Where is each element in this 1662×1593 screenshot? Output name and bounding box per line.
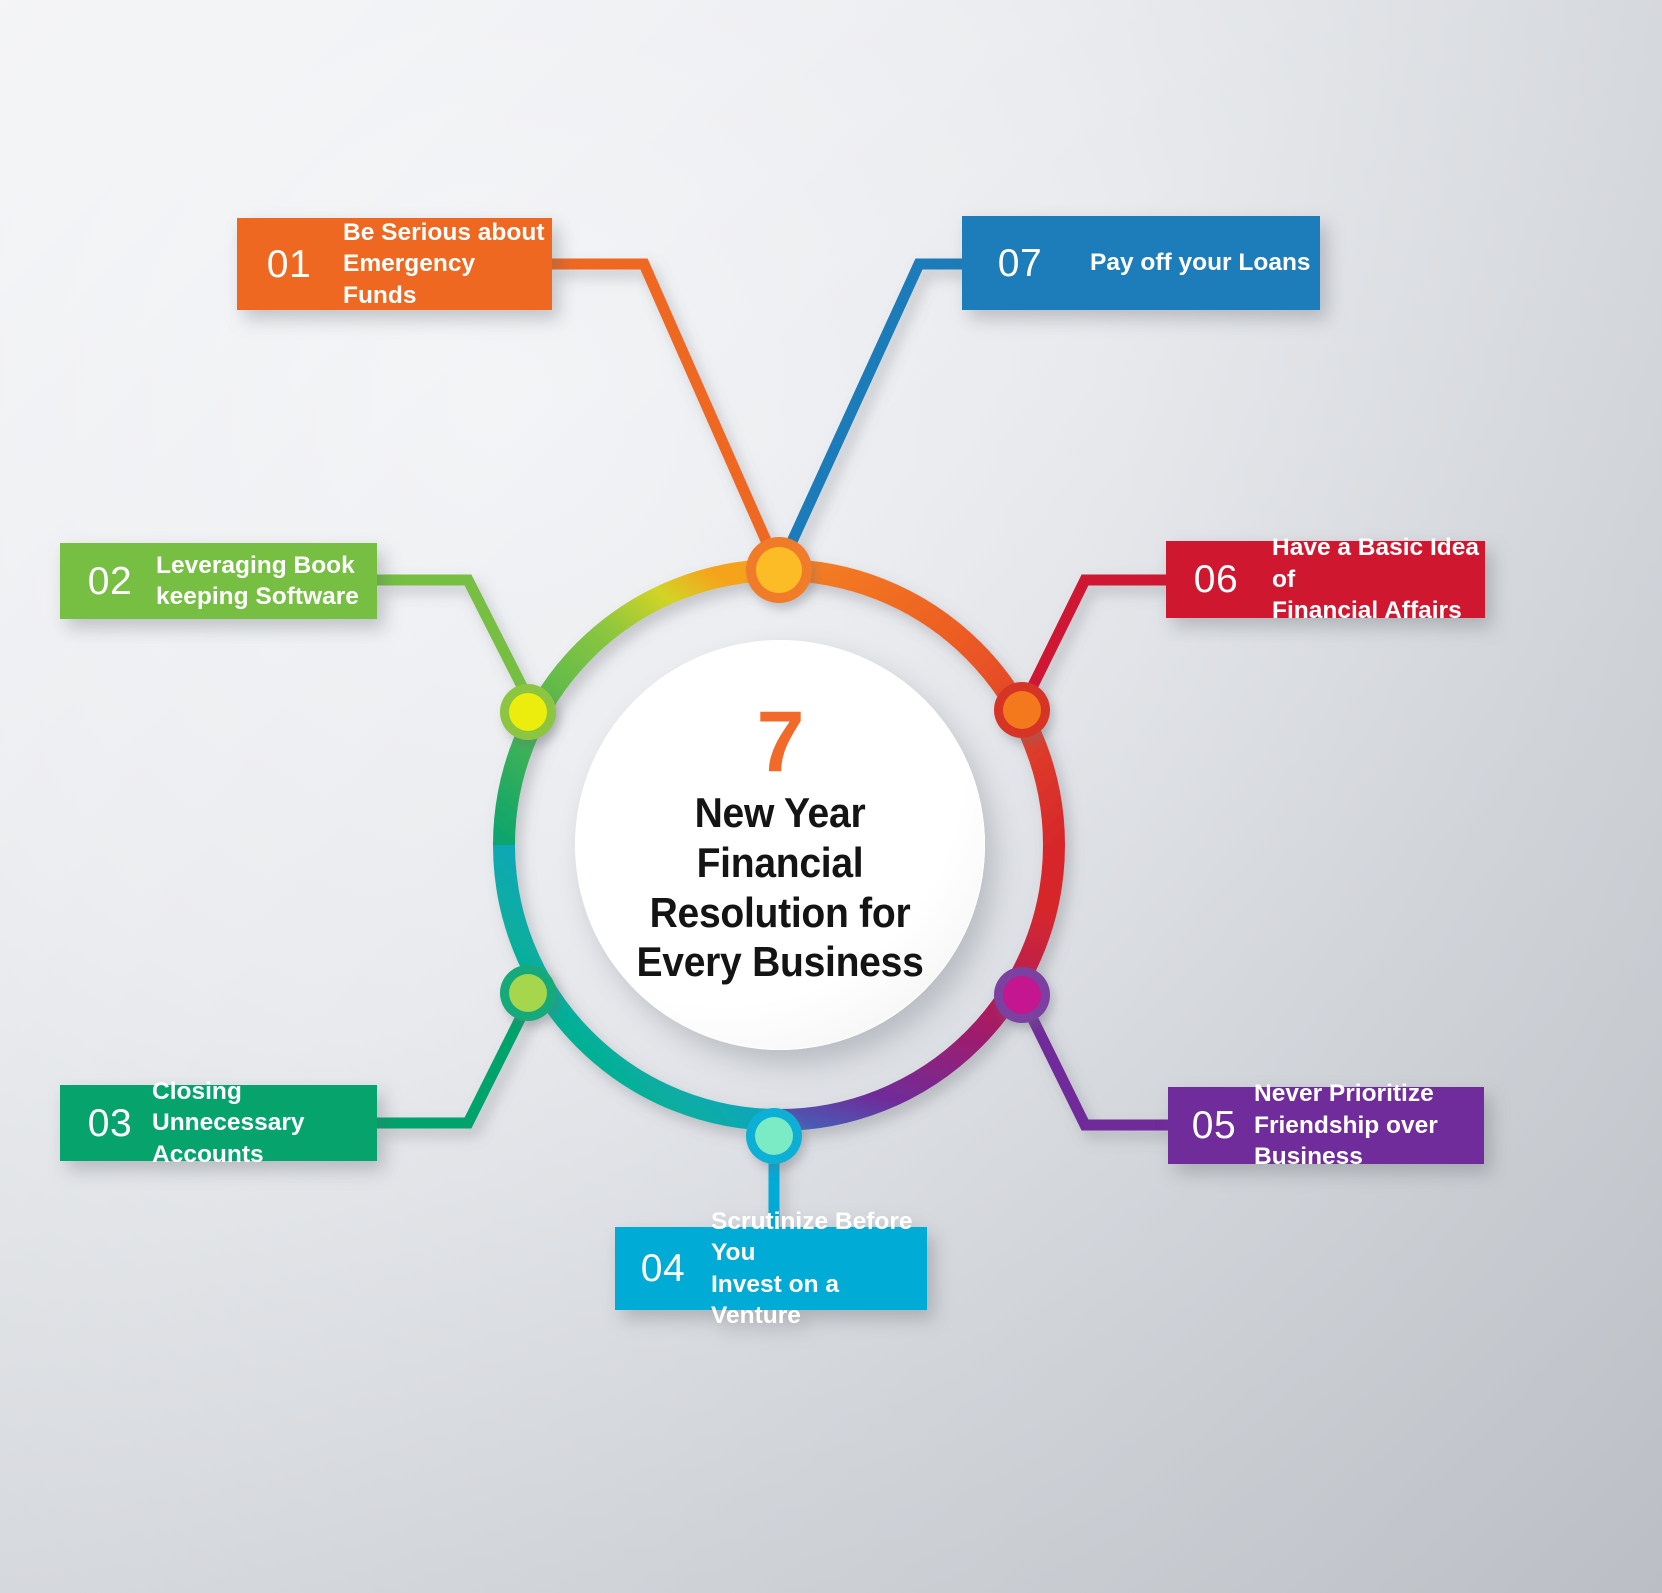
item-label-03[interactable]: 03 Closing Unnecessary Accounts [60,1085,377,1161]
item-label-06[interactable]: 06 Have a Basic Idea of Financial Affair… [1166,541,1485,618]
item-text-05: Never Prioritize Friendship over Busines… [1254,1078,1484,1172]
center-count: 7 [757,703,804,782]
item-label-05[interactable]: 05 Never Prioritize Friendship over Busi… [1168,1087,1484,1164]
item-text-02: Leveraging Book keeping Software [156,550,359,613]
item-number-03: 03 [74,1104,146,1143]
connector-line-06 [1021,580,1166,710]
node-dot-01 [746,537,812,603]
node-dot-06 [994,682,1050,738]
center-title: New Year Financial Resolution for Every … [627,788,934,986]
item-text-07: Pay off your Loans [1090,247,1311,278]
item-number-01: 01 [253,245,325,284]
connector-line-07 [779,264,962,570]
item-label-04[interactable]: 04 Scrutinize Before You Invest on a Ven… [615,1227,927,1310]
node-dot-03 [500,965,556,1021]
node-dot-04 [746,1108,802,1164]
item-text-01: Be Serious about Emergency Funds [343,217,552,311]
connector-line-05 [1021,995,1168,1125]
center-circle: 7 New Year Financial Resolution for Ever… [575,640,985,1050]
item-number-02: 02 [74,562,146,601]
item-label-01[interactable]: 01 Be Serious about Emergency Funds [237,218,552,310]
item-label-07[interactable]: 07 Pay off your Loans [962,216,1320,310]
connector-line-01 [552,264,779,570]
item-text-04: Scrutinize Before You Invest on a Ventur… [711,1206,927,1331]
node-dot-05 [994,967,1050,1023]
node-dot-02 [500,684,556,740]
item-label-02[interactable]: 02 Leveraging Book keeping Software [60,543,377,619]
infographic-canvas: 7 New Year Financial Resolution for Ever… [0,0,1662,1593]
item-number-06: 06 [1180,560,1252,599]
item-number-07: 07 [982,244,1058,283]
item-number-04: 04 [627,1249,699,1288]
item-number-05: 05 [1178,1106,1250,1145]
item-text-06: Have a Basic Idea of Financial Affairs [1272,532,1485,626]
item-text-03: Closing Unnecessary Accounts [152,1076,377,1170]
